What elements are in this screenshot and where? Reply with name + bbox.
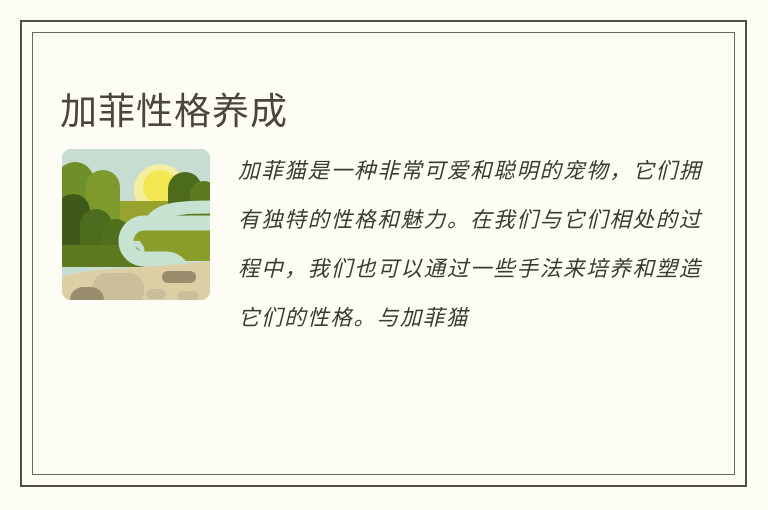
article-frame-outer: 加菲性格养成 <box>20 20 747 487</box>
article-content: 加菲性格养成 <box>22 22 749 489</box>
page-root: 加菲性格养成 <box>0 0 768 510</box>
page-title: 加菲性格养成 <box>60 89 288 135</box>
rock-small-c <box>178 291 198 300</box>
article-body: 加菲猫是一种非常可爱和聪明的宠物，它们拥有独特的性格和魅力。在我们与它们相处的过… <box>62 147 702 343</box>
landscape-thumbnail-image <box>62 149 210 300</box>
rock-small-b <box>146 289 166 299</box>
rock-small-a <box>162 271 196 283</box>
landscape-illustration-svg <box>62 149 210 300</box>
